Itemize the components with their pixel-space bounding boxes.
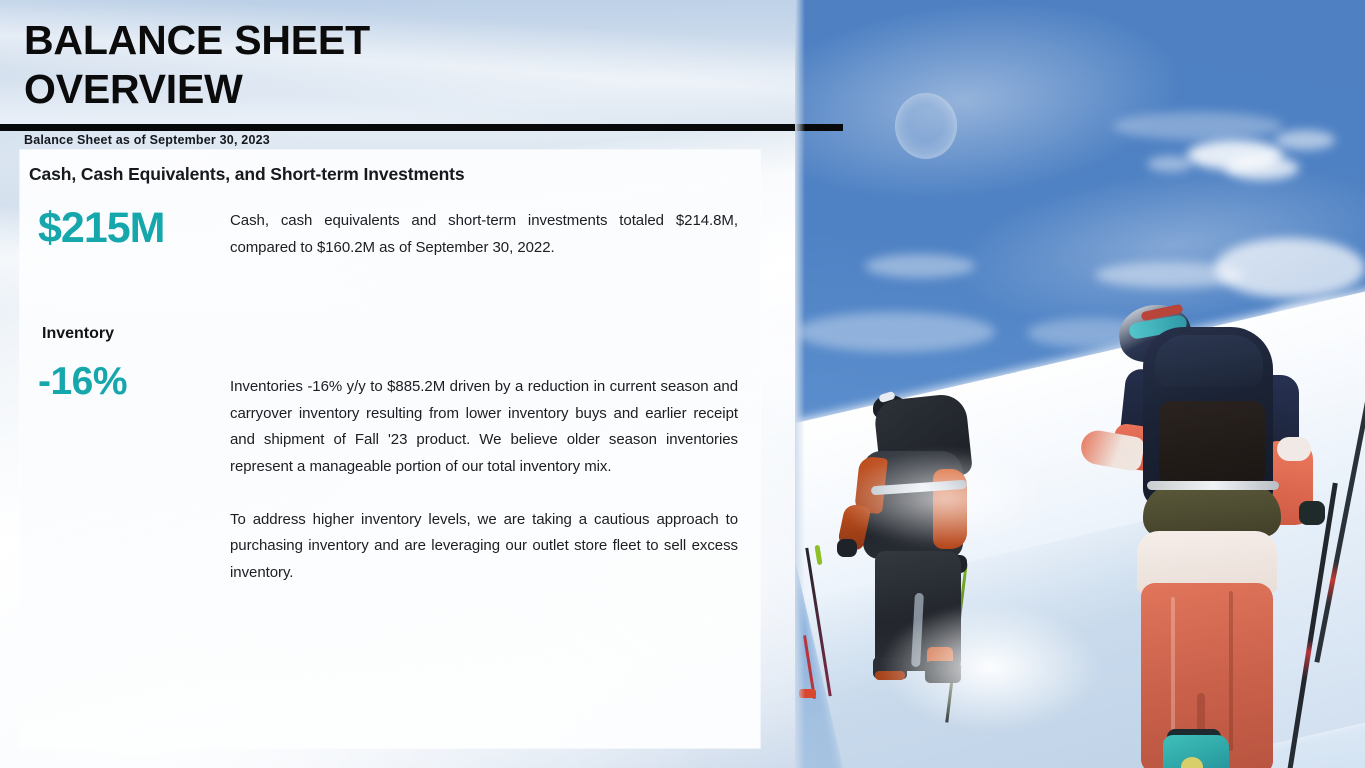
page-title: BALANCE SHEET OVERVIEW: [24, 16, 724, 114]
pants-seam: [1171, 597, 1175, 747]
photo-left-feather-edge: [795, 0, 805, 768]
page-title-line-1: BALANCE SHEET: [24, 17, 370, 63]
panel-heading: Cash, Cash Equivalents, and Short-term I…: [29, 164, 729, 185]
cloud-wisp: [1225, 156, 1299, 180]
page-title-line-2: OVERVIEW: [24, 65, 724, 114]
slide-root: BALANCE SHEET OVERVIEW Balance Sheet as …: [0, 0, 1365, 768]
backpack-panel: [1159, 401, 1265, 485]
cloud-wisp: [1147, 156, 1193, 172]
snow-spray: [865, 600, 1145, 750]
cloud-wisp: [1113, 112, 1283, 140]
title-divider-rule: [0, 124, 843, 131]
ski-photo: [795, 0, 1365, 768]
paragraph-cash: Cash, cash equivalents and short-term in…: [230, 208, 738, 261]
paragraph-inventory-2: To address higher inventory levels, we a…: [230, 507, 738, 587]
cloud-wisp: [1215, 238, 1365, 298]
pants-seam: [1229, 591, 1233, 751]
cloud-wisp: [865, 254, 975, 278]
arm-right-white: [1277, 437, 1311, 461]
metric-label-inventory: Inventory: [42, 325, 232, 343]
content-panel: Cash, Cash Equivalents, and Short-term I…: [20, 150, 760, 748]
glove-right: [1299, 501, 1325, 525]
backpack-strap: [1147, 481, 1279, 490]
ski-pole-icon: [1281, 483, 1338, 768]
metric-value-inventory: -16%: [38, 360, 234, 404]
backpack-lid: [1155, 335, 1263, 387]
subtitle: Balance Sheet as of September 30, 2023: [24, 133, 270, 147]
metric-value-cash: $215M: [38, 204, 234, 253]
hip-belt: [1143, 483, 1281, 537]
cloud-wisp: [1275, 130, 1335, 150]
paragraph-spacer: [230, 261, 738, 374]
paragraph-inventory-1: Inventories -16% y/y to $885.2M driven b…: [230, 374, 738, 480]
panel-body-column: Cash, cash equivalents and short-term in…: [230, 208, 738, 586]
lens-flare-circle: [895, 93, 957, 159]
snow-spray: [825, 432, 1065, 552]
cloud-wisp: [795, 312, 995, 352]
